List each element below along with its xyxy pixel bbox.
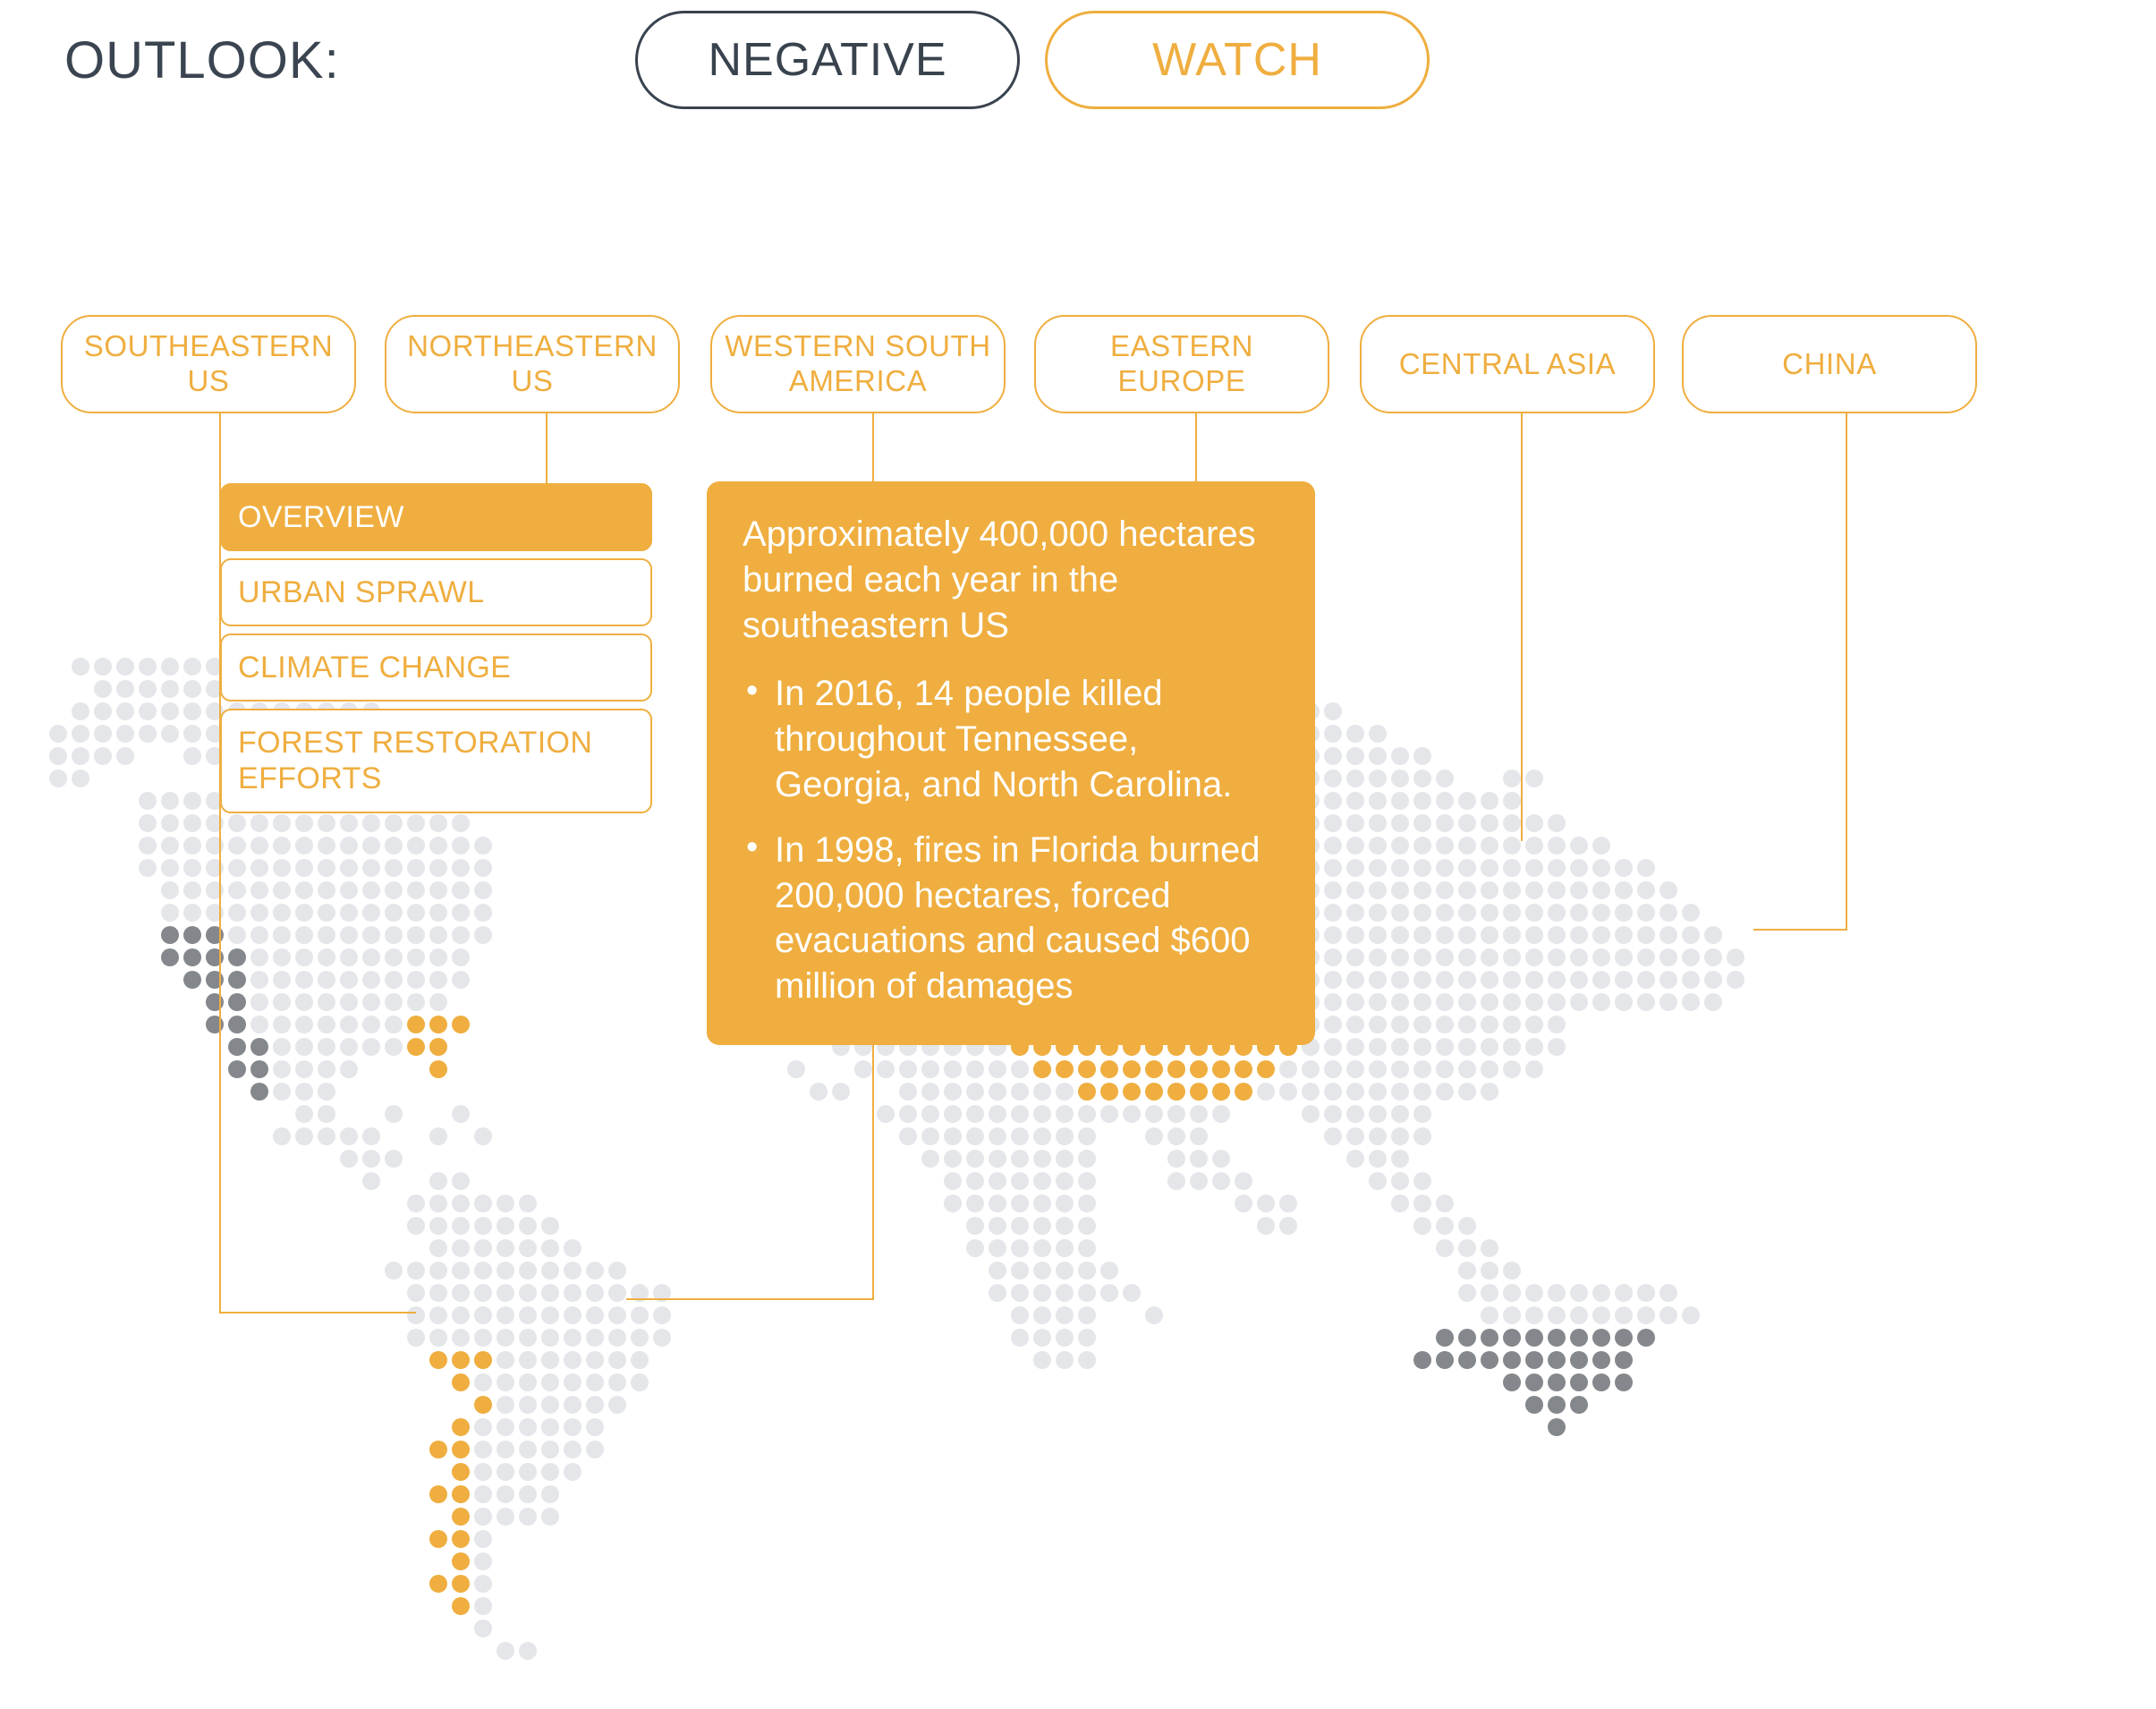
- region-tab-eastern-europe[interactable]: EASTERN EUROPE: [1034, 315, 1329, 413]
- map-dot: [1458, 1016, 1476, 1033]
- map-dot: [1391, 814, 1409, 832]
- map-dot: [497, 1262, 514, 1280]
- map-dot: [340, 881, 358, 899]
- map-dot: [497, 1195, 514, 1212]
- menu-item-climate-change[interactable]: CLIMATE CHANGE: [220, 633, 652, 701]
- map-dot: [1056, 1083, 1074, 1101]
- map-dot: [608, 1262, 626, 1280]
- map-dot: [1615, 1351, 1633, 1369]
- map-dot: [1369, 1127, 1387, 1145]
- map-dot: [340, 859, 358, 877]
- map-dot: [1570, 948, 1588, 966]
- map-dot: [452, 1262, 470, 1280]
- map-dot: [497, 1284, 514, 1302]
- region-tab-southeastern-us[interactable]: SOUTHEASTERN US: [61, 315, 356, 413]
- map-dot: [1391, 1172, 1409, 1190]
- map-dot: [1525, 881, 1543, 899]
- map-dot: [1659, 904, 1677, 922]
- map-dot: [564, 1463, 581, 1481]
- map-dot: [1369, 792, 1387, 810]
- map-dot: [989, 1150, 1006, 1168]
- map-dot: [1369, 993, 1387, 1011]
- map-dot: [1503, 814, 1521, 832]
- map-dot: [1436, 769, 1454, 787]
- map-dot: [1346, 881, 1364, 899]
- map-dot: [1637, 1329, 1655, 1347]
- map-dot: [1458, 1038, 1476, 1056]
- map-dot: [452, 1195, 470, 1212]
- map-dot: [1346, 948, 1364, 966]
- map-dot: [1257, 1060, 1275, 1078]
- map-dot: [1548, 993, 1566, 1011]
- map-dot: [1369, 971, 1387, 989]
- map-dot: [787, 1060, 805, 1078]
- map-dot: [586, 1306, 604, 1324]
- map-dot: [1458, 948, 1476, 966]
- detail-panel: Approximately 400,000 hectares burned ea…: [707, 481, 1315, 1045]
- map-dot: [318, 881, 335, 899]
- map-dot: [1436, 971, 1454, 989]
- map-dot: [1436, 1060, 1454, 1078]
- map-dot: [1413, 971, 1431, 989]
- map-dot: [497, 1396, 514, 1414]
- map-dot: [1078, 1060, 1096, 1078]
- region-tab-western-south-america[interactable]: WESTERN SOUTH AMERICA: [710, 315, 1006, 413]
- map-dot: [362, 1016, 380, 1033]
- map-dot: [1458, 1351, 1476, 1369]
- map-dot: [49, 747, 67, 765]
- map-dot: [385, 859, 403, 877]
- map-dot: [1324, 769, 1342, 787]
- map-dot: [541, 1351, 559, 1369]
- map-dot: [541, 1329, 559, 1347]
- map-dot: [318, 926, 335, 944]
- map-dot: [1436, 926, 1454, 944]
- map-dot: [1324, 926, 1342, 944]
- map-dot: [1592, 993, 1610, 1011]
- map-dot: [340, 837, 358, 854]
- map-dot: [1503, 948, 1521, 966]
- map-dot: [183, 658, 201, 676]
- map-dot: [452, 1552, 470, 1570]
- map-dot: [1235, 1060, 1252, 1078]
- map-dot: [474, 1552, 492, 1570]
- map-dot: [1413, 904, 1431, 922]
- map-dot: [1458, 904, 1476, 922]
- map-dot: [1078, 1150, 1096, 1168]
- map-dot: [295, 837, 313, 854]
- map-dot: [1682, 1306, 1700, 1324]
- map-dot: [340, 993, 358, 1011]
- map-dot: [1458, 792, 1476, 810]
- map-dot: [1503, 904, 1521, 922]
- map-dot: [1525, 948, 1543, 966]
- map-dot: [1056, 1329, 1074, 1347]
- map-dot: [1503, 926, 1521, 944]
- map-dot: [497, 1485, 514, 1503]
- map-dot: [541, 1485, 559, 1503]
- map-dot: [989, 1262, 1006, 1280]
- map-dot: [497, 1351, 514, 1369]
- map-dot: [1481, 1262, 1498, 1280]
- map-dot: [631, 1329, 649, 1347]
- map-dot: [1503, 993, 1521, 1011]
- map-dot: [1525, 814, 1543, 832]
- map-dot: [1436, 948, 1454, 966]
- map-dot: [228, 881, 246, 899]
- map-dot: [407, 1284, 425, 1302]
- map-dot: [340, 1060, 358, 1078]
- map-dot: [1033, 1127, 1051, 1145]
- map-dot: [1615, 971, 1633, 989]
- connector-line: [872, 1009, 874, 1300]
- map-dot: [340, 948, 358, 966]
- map-dot: [1436, 1016, 1454, 1033]
- map-dot: [1302, 1083, 1320, 1101]
- map-dot: [1436, 1329, 1454, 1347]
- map-dot: [1190, 1083, 1208, 1101]
- map-dot: [1190, 1105, 1208, 1123]
- map-dot: [228, 971, 246, 989]
- map-dot: [273, 926, 291, 944]
- map-dot: [250, 837, 268, 854]
- map-dot: [1078, 1284, 1096, 1302]
- map-dot: [407, 881, 425, 899]
- map-dot: [206, 926, 224, 944]
- map-dot: [1548, 971, 1566, 989]
- map-dot: [1637, 993, 1655, 1011]
- map-dot: [653, 1329, 671, 1347]
- map-dot: [139, 814, 157, 832]
- region-tab-china[interactable]: CHINA: [1682, 315, 1977, 413]
- map-dot: [1436, 1195, 1454, 1212]
- map-dot: [1346, 837, 1364, 854]
- map-dot: [1458, 971, 1476, 989]
- map-dot: [228, 948, 246, 966]
- region-tab-northeastern-us[interactable]: NORTHEASTERN US: [385, 315, 680, 413]
- map-dot: [519, 1262, 537, 1280]
- map-dot: [452, 1418, 470, 1436]
- map-dot: [161, 859, 179, 877]
- map-dot: [362, 1172, 380, 1190]
- map-dot: [429, 1060, 447, 1078]
- map-dot: [1548, 837, 1566, 854]
- map-dot: [295, 1105, 313, 1123]
- map-dot: [183, 725, 201, 743]
- map-dot: [1391, 1083, 1409, 1101]
- map-dot: [989, 1195, 1006, 1212]
- map-dot: [921, 1083, 939, 1101]
- map-dot: [1481, 1016, 1498, 1033]
- map-dot: [474, 926, 492, 944]
- map-dot: [1615, 1284, 1633, 1302]
- map-dot: [72, 747, 89, 765]
- menu-item-urban-sprawl[interactable]: URBAN SPRAWL: [220, 558, 652, 626]
- map-dot: [340, 926, 358, 944]
- map-dot: [452, 904, 470, 922]
- map-dot: [1503, 1351, 1521, 1369]
- map-dot: [1346, 1083, 1364, 1101]
- map-dot: [1503, 1016, 1521, 1033]
- map-dot: [362, 1150, 380, 1168]
- map-dot: [429, 1351, 447, 1369]
- map-dot: [318, 1016, 335, 1033]
- map-dot: [519, 1329, 537, 1347]
- map-dot: [183, 680, 201, 698]
- map-dot: [1413, 926, 1431, 944]
- map-dot: [429, 1485, 447, 1503]
- map-dot: [362, 881, 380, 899]
- map-dot: [1056, 1172, 1074, 1190]
- menu-item-overview[interactable]: OVERVIEW: [220, 483, 652, 551]
- map-dot: [1145, 1127, 1163, 1145]
- map-dot: [1302, 1105, 1320, 1123]
- map-dot: [966, 1172, 984, 1190]
- map-dot: [295, 1016, 313, 1033]
- map-dot: [429, 1329, 447, 1347]
- map-dot: [1391, 747, 1409, 765]
- menu-item-forest-restoration-efforts[interactable]: FOREST RESTORATION EFFORTS: [220, 709, 652, 812]
- map-dot: [1346, 904, 1364, 922]
- map-dot: [1033, 1329, 1051, 1347]
- map-dot: [1145, 1060, 1163, 1078]
- map-dot: [474, 1373, 492, 1391]
- map-dot: [295, 859, 313, 877]
- map-dot: [966, 1150, 984, 1168]
- map-dot: [586, 1396, 604, 1414]
- map-dot: [1570, 1306, 1588, 1324]
- map-dot: [1637, 926, 1655, 944]
- map-dot: [1033, 1262, 1051, 1280]
- map-dot: [519, 1373, 537, 1391]
- map-dot: [519, 1396, 537, 1414]
- map-dot: [429, 1016, 447, 1033]
- map-dot: [564, 1441, 581, 1458]
- map-dot: [1391, 948, 1409, 966]
- map-dot: [429, 904, 447, 922]
- map-dot: [1436, 1217, 1454, 1235]
- map-dot: [474, 1597, 492, 1615]
- map-dot: [1235, 1083, 1252, 1101]
- map-dot: [1413, 859, 1431, 877]
- map-dot: [1257, 1217, 1275, 1235]
- map-dot: [407, 1195, 425, 1212]
- map-dot: [1637, 1284, 1655, 1302]
- map-dot: [1391, 1038, 1409, 1056]
- map-dot: [72, 725, 89, 743]
- map-dot: [1481, 926, 1498, 944]
- map-dot: [385, 926, 403, 944]
- map-dot: [519, 1463, 537, 1481]
- map-dot: [1436, 1083, 1454, 1101]
- map-dot: [1570, 1284, 1588, 1302]
- map-dot: [1458, 1083, 1476, 1101]
- connector-line: [626, 1298, 874, 1300]
- map-dot: [161, 837, 179, 854]
- map-dot: [407, 837, 425, 854]
- map-dot: [564, 1329, 581, 1347]
- map-dot: [1369, 881, 1387, 899]
- map-dot: [228, 837, 246, 854]
- map-dot: [1413, 1217, 1431, 1235]
- map-dot: [1592, 881, 1610, 899]
- map-dot: [564, 1351, 581, 1369]
- map-dot: [1011, 1284, 1029, 1302]
- map-dot: [429, 859, 447, 877]
- map-dot: [1525, 971, 1543, 989]
- map-dot: [1100, 1105, 1118, 1123]
- map-dot: [362, 1038, 380, 1056]
- map-dot: [1481, 1038, 1498, 1056]
- map-dot: [586, 1262, 604, 1280]
- map-dot: [1100, 1262, 1118, 1280]
- map-dot: [1324, 1016, 1342, 1033]
- map-dot: [1302, 1060, 1320, 1078]
- map-dot: [564, 1239, 581, 1257]
- map-dot: [452, 1239, 470, 1257]
- map-dot: [206, 948, 224, 966]
- map-dot: [1369, 948, 1387, 966]
- map-dot: [407, 948, 425, 966]
- map-dot: [1413, 993, 1431, 1011]
- map-dot: [1570, 926, 1588, 944]
- map-dot: [1436, 993, 1454, 1011]
- map-dot: [1525, 1329, 1543, 1347]
- map-dot: [1413, 769, 1431, 787]
- map-dot: [541, 1418, 559, 1436]
- map-dot: [1346, 792, 1364, 810]
- map-dot: [1369, 1105, 1387, 1123]
- map-dot: [183, 859, 201, 877]
- map-dot: [497, 1642, 514, 1660]
- map-dot: [989, 1083, 1006, 1101]
- map-dot: [519, 1642, 537, 1660]
- map-dot: [1704, 926, 1722, 944]
- region-tab-central-asia[interactable]: CENTRAL ASIA: [1360, 315, 1655, 413]
- map-dot: [362, 904, 380, 922]
- map-dot: [608, 1373, 626, 1391]
- map-dot: [1324, 1105, 1342, 1123]
- map-dot: [295, 1060, 313, 1078]
- map-dot: [340, 1150, 358, 1168]
- map-dot: [497, 1239, 514, 1257]
- map-dot: [1592, 1284, 1610, 1302]
- map-dot: [1570, 1329, 1588, 1347]
- map-dot: [273, 859, 291, 877]
- map-dot: [1033, 1239, 1051, 1257]
- map-dot: [1011, 1127, 1029, 1145]
- map-dot: [1503, 1373, 1521, 1391]
- map-dot: [474, 1127, 492, 1145]
- map-dot: [1570, 837, 1588, 854]
- map-dot: [385, 948, 403, 966]
- map-dot: [228, 1060, 246, 1078]
- map-dot: [586, 1351, 604, 1369]
- map-dot: [1100, 1083, 1118, 1101]
- map-dot: [362, 993, 380, 1011]
- map-dot: [452, 1105, 470, 1123]
- map-dot: [1078, 1262, 1096, 1280]
- map-dot: [1525, 1284, 1543, 1302]
- map-dot: [1503, 971, 1521, 989]
- map-dot: [161, 725, 179, 743]
- map-dot: [1324, 971, 1342, 989]
- map-dot: [1727, 948, 1744, 966]
- map-dot: [1592, 1373, 1610, 1391]
- map-dot: [161, 680, 179, 698]
- map-dot: [1592, 948, 1610, 966]
- map-dot: [1391, 1060, 1409, 1078]
- map-dot: [1548, 881, 1566, 899]
- map-dot: [1548, 1418, 1566, 1436]
- map-dot: [429, 1284, 447, 1302]
- map-dot: [1413, 1351, 1431, 1369]
- map-dot: [1413, 881, 1431, 899]
- map-dot: [1458, 1284, 1476, 1302]
- map-dot: [564, 1373, 581, 1391]
- map-dot: [1369, 859, 1387, 877]
- map-dot: [1481, 1060, 1498, 1078]
- map-dot: [1369, 1150, 1387, 1168]
- map-dot: [1078, 1217, 1096, 1235]
- map-dot: [1123, 1060, 1141, 1078]
- map-dot: [1145, 1083, 1163, 1101]
- map-dot: [1436, 1038, 1454, 1056]
- map-dot: [295, 904, 313, 922]
- map-dot: [407, 859, 425, 877]
- map-dot: [318, 859, 335, 877]
- map-dot: [429, 1217, 447, 1235]
- map-dot: [452, 1441, 470, 1458]
- map-dot: [541, 1441, 559, 1458]
- map-dot: [921, 1150, 939, 1168]
- map-dot: [1056, 1195, 1074, 1212]
- map-dot: [1727, 971, 1744, 989]
- map-dot: [1503, 1329, 1521, 1347]
- map-dot: [608, 1351, 626, 1369]
- map-dot: [452, 1530, 470, 1548]
- map-dot: [1391, 1016, 1409, 1033]
- map-dot: [429, 971, 447, 989]
- map-dot: [519, 1284, 537, 1302]
- map-dot: [474, 1441, 492, 1458]
- map-dot: [318, 1127, 335, 1145]
- map-dot: [1659, 1306, 1677, 1324]
- map-dot: [139, 837, 157, 854]
- map-dot: [139, 680, 157, 698]
- map-dot: [541, 1239, 559, 1257]
- map-dot: [519, 1441, 537, 1458]
- map-dot: [1100, 1284, 1118, 1302]
- map-dot: [541, 1373, 559, 1391]
- map-dot: [474, 1239, 492, 1257]
- map-dot: [1324, 904, 1342, 922]
- map-dot: [273, 904, 291, 922]
- map-dot: [1481, 792, 1498, 810]
- map-dot: [1279, 1217, 1297, 1235]
- map-dot: [318, 1083, 335, 1101]
- map-dot: [161, 948, 179, 966]
- map-dot: [407, 926, 425, 944]
- map-dot: [474, 1620, 492, 1637]
- map-dot: [1682, 926, 1700, 944]
- map-dot: [1056, 1127, 1074, 1145]
- map-dot: [989, 1172, 1006, 1190]
- map-dot: [452, 1597, 470, 1615]
- map-dot: [1011, 1105, 1029, 1123]
- map-dot: [1503, 1284, 1521, 1302]
- map-dot: [1190, 1172, 1208, 1190]
